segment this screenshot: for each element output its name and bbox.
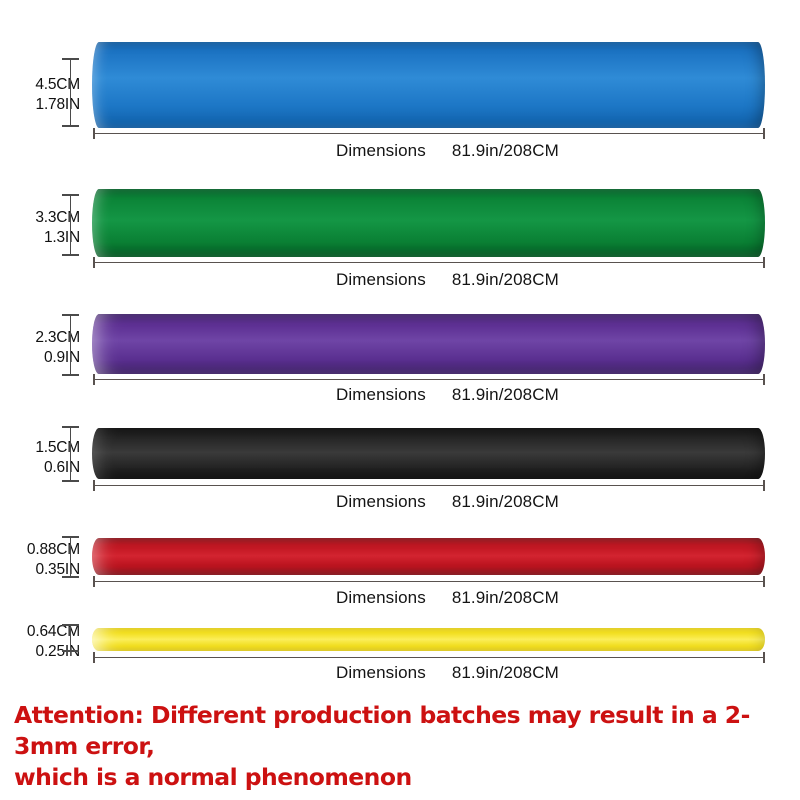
length-caption-red: Dimensions 81.9in/208CM: [336, 588, 559, 608]
thickness-arrow-black: [62, 426, 79, 482]
band-red: [92, 538, 765, 575]
length-value-green: 81.9in/208CM: [452, 270, 559, 290]
band-purple: [92, 314, 765, 374]
thickness-arrow-red: [62, 536, 79, 578]
band-row-yellow: 0.64CM 0.25IN Dimensions 81.9in/208CM: [0, 610, 800, 700]
length-label-green: Dimensions: [336, 270, 426, 290]
length-value-black: 81.9in/208CM: [452, 492, 559, 512]
length-label-red: Dimensions: [336, 588, 426, 608]
band-black: [92, 428, 765, 479]
length-dimension-purple: [93, 374, 765, 385]
length-dimension-blue: [93, 128, 765, 139]
length-value-blue: 81.9in/208CM: [452, 141, 559, 161]
thickness-arrow-purple: [62, 314, 79, 376]
length-dimension-yellow: [93, 652, 765, 663]
band-blue: [92, 42, 765, 128]
length-label-blue: Dimensions: [336, 141, 426, 161]
attention-note: Attention: Different production batches …: [14, 700, 794, 793]
band-row-blue: 4.5CM 1.78IN Dimensions 81.9in/208CM: [0, 0, 800, 170]
length-dimension-green: [93, 257, 765, 268]
length-caption-black: Dimensions 81.9in/208CM: [336, 492, 559, 512]
band-yellow: [92, 628, 765, 651]
length-label-yellow: Dimensions: [336, 663, 426, 683]
attention-line-2: which is a normal phenomenon: [14, 762, 794, 793]
band-row-black: 1.5CM 0.6IN Dimensions 81.9in/208CM: [0, 402, 800, 512]
length-caption-blue: Dimensions 81.9in/208CM: [336, 141, 559, 161]
band-row-green: 3.3CM 1.3IN Dimensions 81.9in/208CM: [0, 170, 800, 288]
length-dimension-black: [93, 480, 765, 491]
resistance-band-size-diagram: 4.5CM 1.78IN Dimensions 81.9in/208CM 3.3…: [0, 0, 800, 800]
band-green: [92, 189, 765, 257]
length-caption-yellow: Dimensions 81.9in/208CM: [336, 663, 559, 683]
thickness-arrow-green: [62, 194, 79, 256]
length-caption-green: Dimensions 81.9in/208CM: [336, 270, 559, 290]
length-dimension-red: [93, 576, 765, 587]
band-row-purple: 2.3CM 0.9IN Dimensions 81.9in/208CM: [0, 288, 800, 402]
length-value-red: 81.9in/208CM: [452, 588, 559, 608]
thickness-arrow-blue: [62, 58, 79, 127]
attention-line-1: Attention: Different production batches …: [14, 701, 750, 760]
thickness-arrow-yellow: [62, 624, 79, 652]
band-row-red: 0.88CM 0.35IN Dimensions 81.9in/208CM: [0, 512, 800, 610]
length-label-black: Dimensions: [336, 492, 426, 512]
length-value-yellow: 81.9in/208CM: [452, 663, 559, 683]
